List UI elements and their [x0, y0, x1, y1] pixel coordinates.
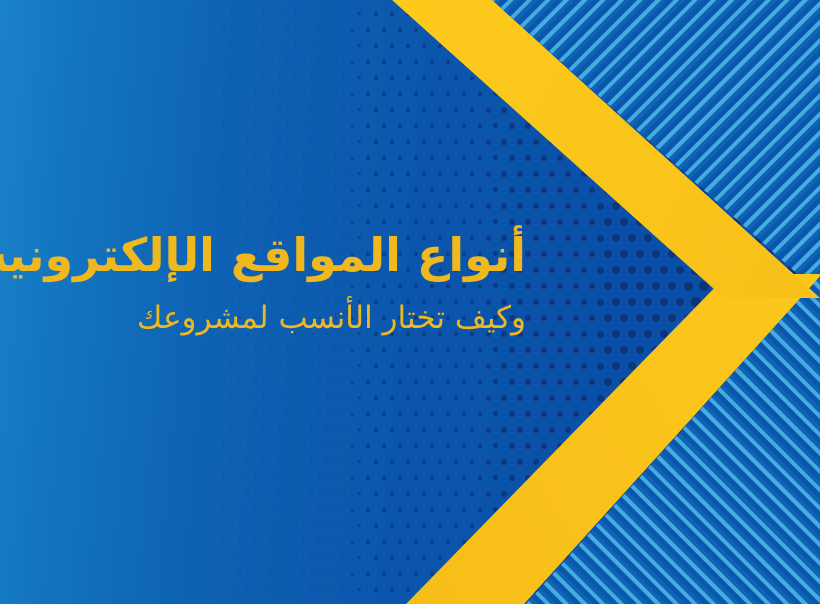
title-slide: أنواع المواقع الإلكترونية وكيف تختار الأ… — [0, 0, 820, 604]
title-text-block: أنواع المواقع الإلكترونية وكيف تختار الأ… — [0, 228, 560, 337]
page-subtitle: وكيف تختار الأنسب لمشروعك — [0, 300, 526, 337]
page-title: أنواع المواقع الإلكترونية — [0, 228, 526, 282]
